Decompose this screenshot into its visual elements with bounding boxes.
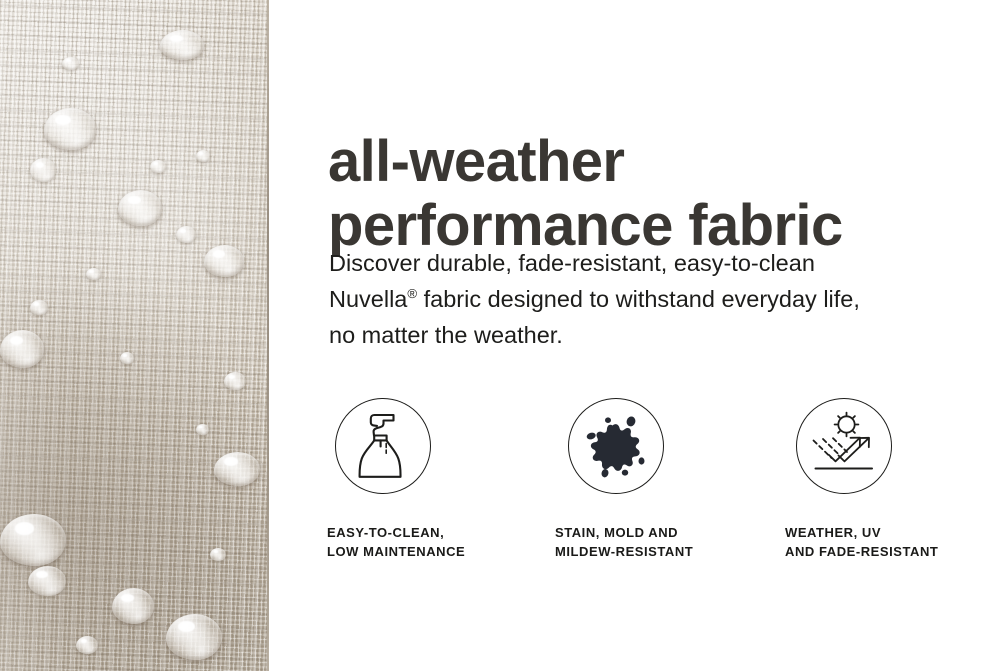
- body-line-2: Nuvella® fabric designed to withstand ev…: [329, 281, 989, 317]
- feature-label-line-2: AND FADE-RESISTANT: [785, 542, 1005, 561]
- registered-trademark-icon: ®: [407, 286, 417, 301]
- page-title: all-weather performance fabric: [328, 130, 1000, 258]
- feature-label-line-2: LOW MAINTENANCE: [327, 542, 557, 561]
- body-line-1: Discover durable, fade-resistant, easy-t…: [329, 245, 989, 281]
- water-droplet: [176, 226, 196, 243]
- water-droplet: [0, 514, 66, 566]
- water-droplet: [224, 372, 246, 390]
- feature-label: WEATHER, UV AND FADE-RESISTANT: [785, 523, 1005, 561]
- water-droplet: [62, 57, 79, 70]
- fabric-photo: [0, 0, 269, 671]
- water-droplet: [30, 300, 48, 315]
- water-droplet: [196, 150, 210, 162]
- body-line-2-rest: fabric designed to withstand everyday li…: [417, 286, 860, 312]
- body-line-3: no matter the weather.: [329, 317, 989, 353]
- feature-easy-to-clean: EASY-TO-CLEAN, LOW MAINTENANCE: [327, 398, 557, 561]
- water-droplet: [118, 190, 162, 226]
- water-droplet: [0, 330, 44, 368]
- water-droplet: [214, 452, 260, 486]
- content-area: all-weather performance fabric Discover …: [269, 0, 1005, 671]
- feature-label: EASY-TO-CLEAN, LOW MAINTENANCE: [327, 523, 557, 561]
- spray-bottle-icon: [335, 398, 431, 494]
- feature-label-line-1: WEATHER, UV: [785, 523, 1005, 542]
- water-droplet: [160, 30, 204, 60]
- stain-splat-icon: [568, 398, 664, 494]
- feature-list: EASY-TO-CLEAN, LOW MAINTENANCE: [269, 398, 1005, 568]
- feature-label-line-1: EASY-TO-CLEAN,: [327, 523, 557, 542]
- body-copy: Discover durable, fade-resistant, easy-t…: [329, 245, 989, 353]
- water-droplet: [30, 158, 56, 182]
- feature-weather-uv-resistant: WEATHER, UV AND FADE-RESISTANT: [785, 398, 1005, 561]
- water-droplet: [196, 424, 209, 435]
- water-droplet: [76, 636, 98, 654]
- headline-line-1: all-weather: [328, 130, 1000, 194]
- water-droplet: [204, 245, 244, 277]
- brand-name: Nuvella: [329, 286, 407, 312]
- water-droplet: [210, 548, 226, 561]
- water-droplet: [166, 614, 222, 660]
- all-weather-performance-fabric-banner: all-weather performance fabric Discover …: [0, 0, 1005, 671]
- water-droplet: [44, 108, 96, 150]
- sun-uv-reflect-icon: [796, 398, 892, 494]
- feature-label-line-1: STAIN, MOLD AND: [555, 523, 785, 542]
- water-droplet: [86, 268, 101, 280]
- water-droplet: [120, 352, 134, 364]
- feature-label-line-2: MILDEW-RESISTANT: [555, 542, 785, 561]
- water-droplet: [150, 160, 166, 173]
- feature-stain-resistant: STAIN, MOLD AND MILDEW-RESISTANT: [555, 398, 785, 561]
- water-droplet: [112, 588, 154, 624]
- feature-label: STAIN, MOLD AND MILDEW-RESISTANT: [555, 523, 785, 561]
- water-droplet: [28, 566, 66, 596]
